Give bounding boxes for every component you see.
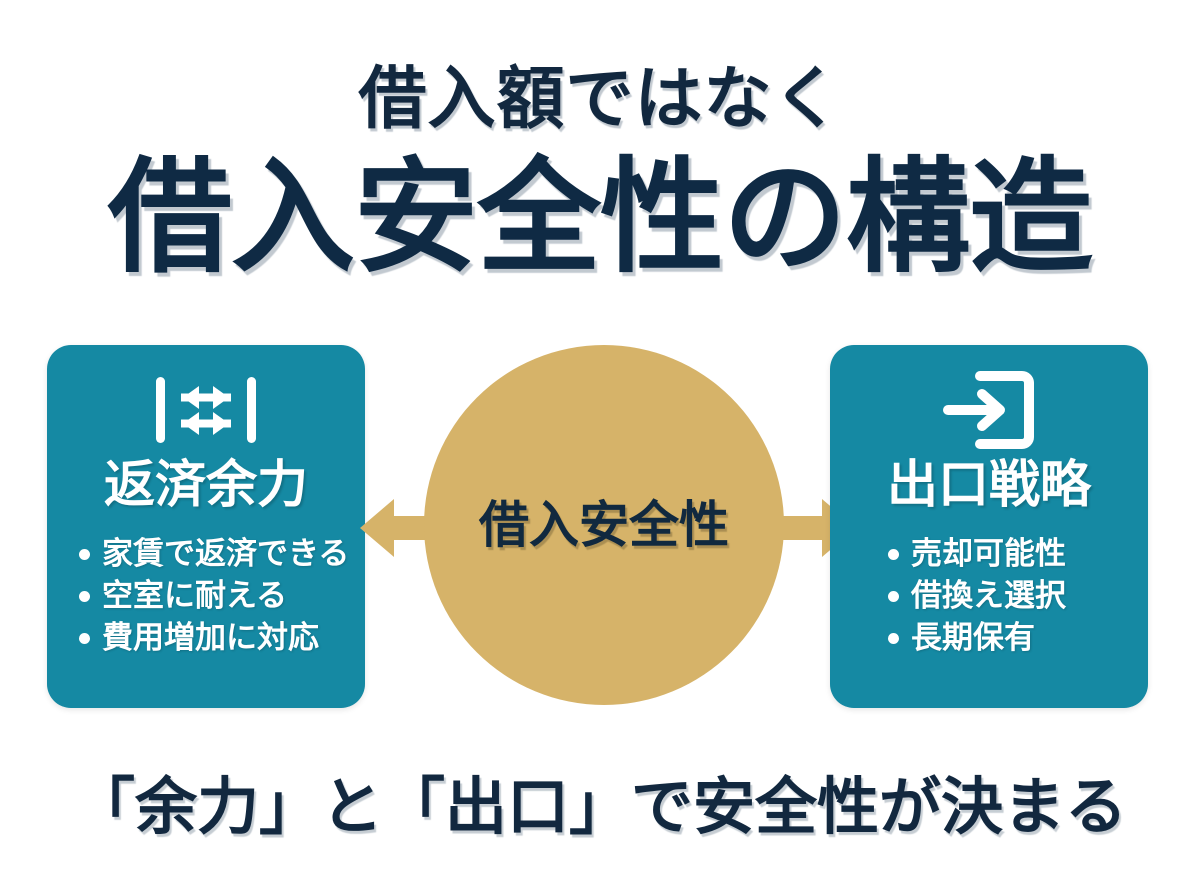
- bullet-label: 売却可能性: [911, 533, 1066, 575]
- bullet-dot-icon: [888, 549, 899, 560]
- bullet-list-repayment-capacity: 家賃で返済できる 空室に耐える 費用増加に対応: [47, 533, 365, 659]
- bullet-dot-icon: [79, 591, 90, 602]
- center-circle-loan-safety: 借入安全性: [424, 345, 784, 705]
- card-title-repayment-capacity: 返済余力: [47, 455, 365, 517]
- bullet-label: 借換え選択: [911, 575, 1066, 617]
- eyebrow-text: 借入額ではなく: [0, 58, 1200, 142]
- bullet-label: 費用増加に対応: [102, 617, 319, 659]
- list-item: 売却可能性: [844, 533, 1134, 575]
- bullet-dot-icon: [888, 633, 899, 644]
- bullet-label: 空室に耐える: [102, 575, 287, 617]
- bullet-list-exit-strategy: 売却可能性 借換え選択 長期保有: [830, 533, 1148, 659]
- card-repayment-capacity[interactable]: 返済余力 家賃で返済できる 空室に耐える 費用増加に対応: [47, 345, 365, 708]
- exit-arrow-icon: [830, 367, 1148, 453]
- list-item: 借換え選択: [844, 575, 1134, 617]
- bullet-dot-icon: [79, 633, 90, 644]
- center-circle-label: 借入安全性: [479, 496, 729, 554]
- page-title: 借入安全性の構造: [0, 143, 1200, 293]
- footer-caption: 「余力」と「出口」で安全性が決まる: [0, 768, 1200, 846]
- card-title-exit-strategy: 出口戦略: [830, 455, 1148, 517]
- bullet-dot-icon: [79, 549, 90, 560]
- list-item: 家賃で返済できる: [61, 533, 351, 575]
- width-arrows-icon: [47, 367, 365, 453]
- bullet-label: 長期保有: [911, 617, 1035, 659]
- list-item: 費用増加に対応: [61, 617, 351, 659]
- infographic-canvas: 借入額ではなく 借入安全性の構造 返済余力: [0, 0, 1200, 896]
- card-exit-strategy[interactable]: 出口戦略 売却可能性 借換え選択 長期保有: [830, 345, 1148, 708]
- list-item: 空室に耐える: [61, 575, 351, 617]
- bullet-dot-icon: [888, 591, 899, 602]
- list-item: 長期保有: [844, 617, 1134, 659]
- bullet-label: 家賃で返済できる: [102, 533, 349, 575]
